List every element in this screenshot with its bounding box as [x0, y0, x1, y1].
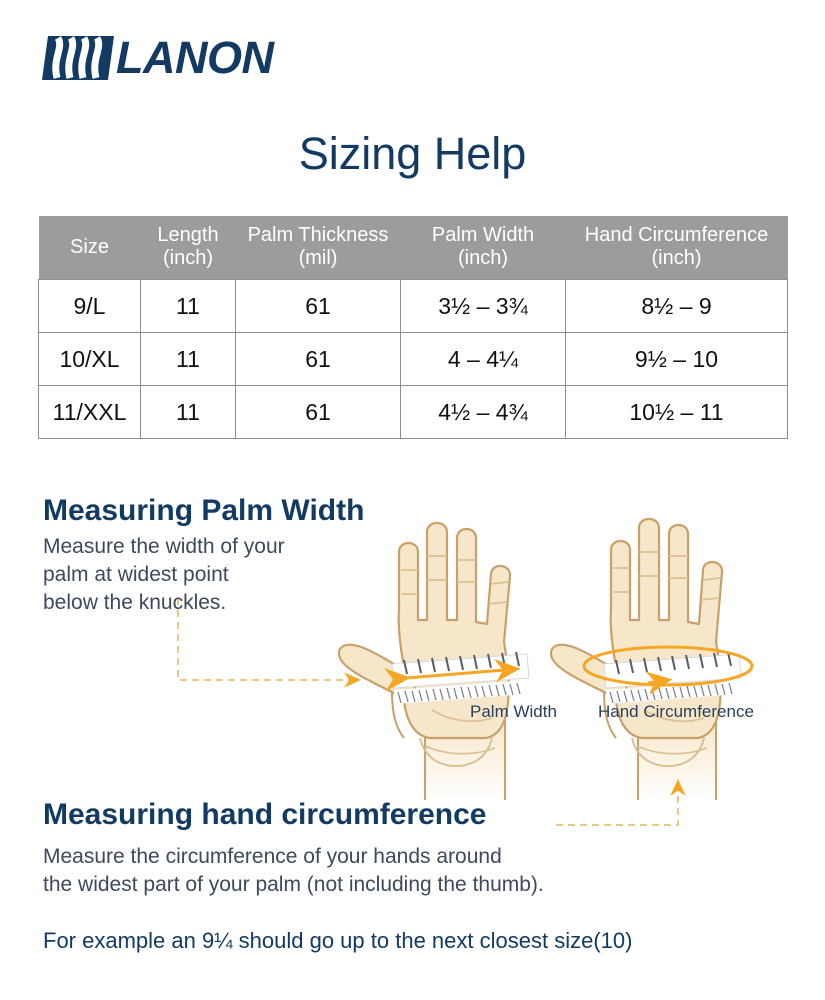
- cell-palm-width: 4 – 4¼: [401, 333, 566, 386]
- cell-size: 10/XL: [39, 333, 141, 386]
- hand-circumference-label: Hand Circumference: [598, 702, 754, 722]
- cell-length: 11: [141, 333, 236, 386]
- cell-palm-width: 3½ – 3¾: [401, 280, 566, 333]
- brand-logo: LANON: [42, 34, 273, 82]
- table-row: 10/XL 11 61 4 – 4¼ 9½ – 10: [39, 333, 788, 386]
- section-heading-palm-width: Measuring Palm Width: [43, 494, 364, 528]
- cell-thickness: 61: [236, 280, 401, 333]
- cell-circumference: 8½ – 9: [566, 280, 788, 333]
- section-body-hand-circumference: Measure the circumference of your hands …: [43, 843, 683, 899]
- column-header-size: Size: [39, 216, 141, 280]
- brand-name: LANON: [116, 34, 273, 82]
- right-hand-figure: [551, 519, 752, 800]
- example-note: For example an 9¼ should go up to the ne…: [43, 928, 632, 954]
- palm-width-label: Palm Width: [470, 702, 557, 722]
- cell-size: 9/L: [39, 280, 141, 333]
- column-header-palm-thickness: Palm Thickness (mil): [236, 216, 401, 280]
- cell-length: 11: [141, 280, 236, 333]
- cell-circumference: 10½ – 11: [566, 386, 788, 439]
- column-header-palm-width: Palm Width (inch): [401, 216, 566, 280]
- column-header-length: Length (inch): [141, 216, 236, 280]
- cell-thickness: 61: [236, 386, 401, 439]
- sizing-help-page: LANON Sizing Help Size Length (inch) Pal…: [0, 0, 825, 1000]
- page-title: Sizing Help: [0, 128, 825, 180]
- table-row: 11/XXL 11 61 4½ – 4¾ 10½ – 11: [39, 386, 788, 439]
- table-row: 9/L 11 61 3½ – 3¾ 8½ – 9: [39, 280, 788, 333]
- cell-palm-width: 4½ – 4¾: [401, 386, 566, 439]
- cell-length: 11: [141, 386, 236, 439]
- wavy-lines-logo-mark: [42, 34, 114, 82]
- cell-thickness: 61: [236, 333, 401, 386]
- cell-size: 11/XXL: [39, 386, 141, 439]
- table-header-row: Size Length (inch) Palm Thickness (mil) …: [39, 216, 788, 280]
- sizing-table: Size Length (inch) Palm Thickness (mil) …: [38, 216, 788, 439]
- cell-circumference: 9½ – 10: [566, 333, 788, 386]
- section-body-palm-width: Measure the width of your palm at widest…: [43, 533, 373, 617]
- column-header-hand-circumference: Hand Circumference (inch): [566, 216, 788, 280]
- section-heading-hand-circumference: Measuring hand circumference: [43, 798, 486, 832]
